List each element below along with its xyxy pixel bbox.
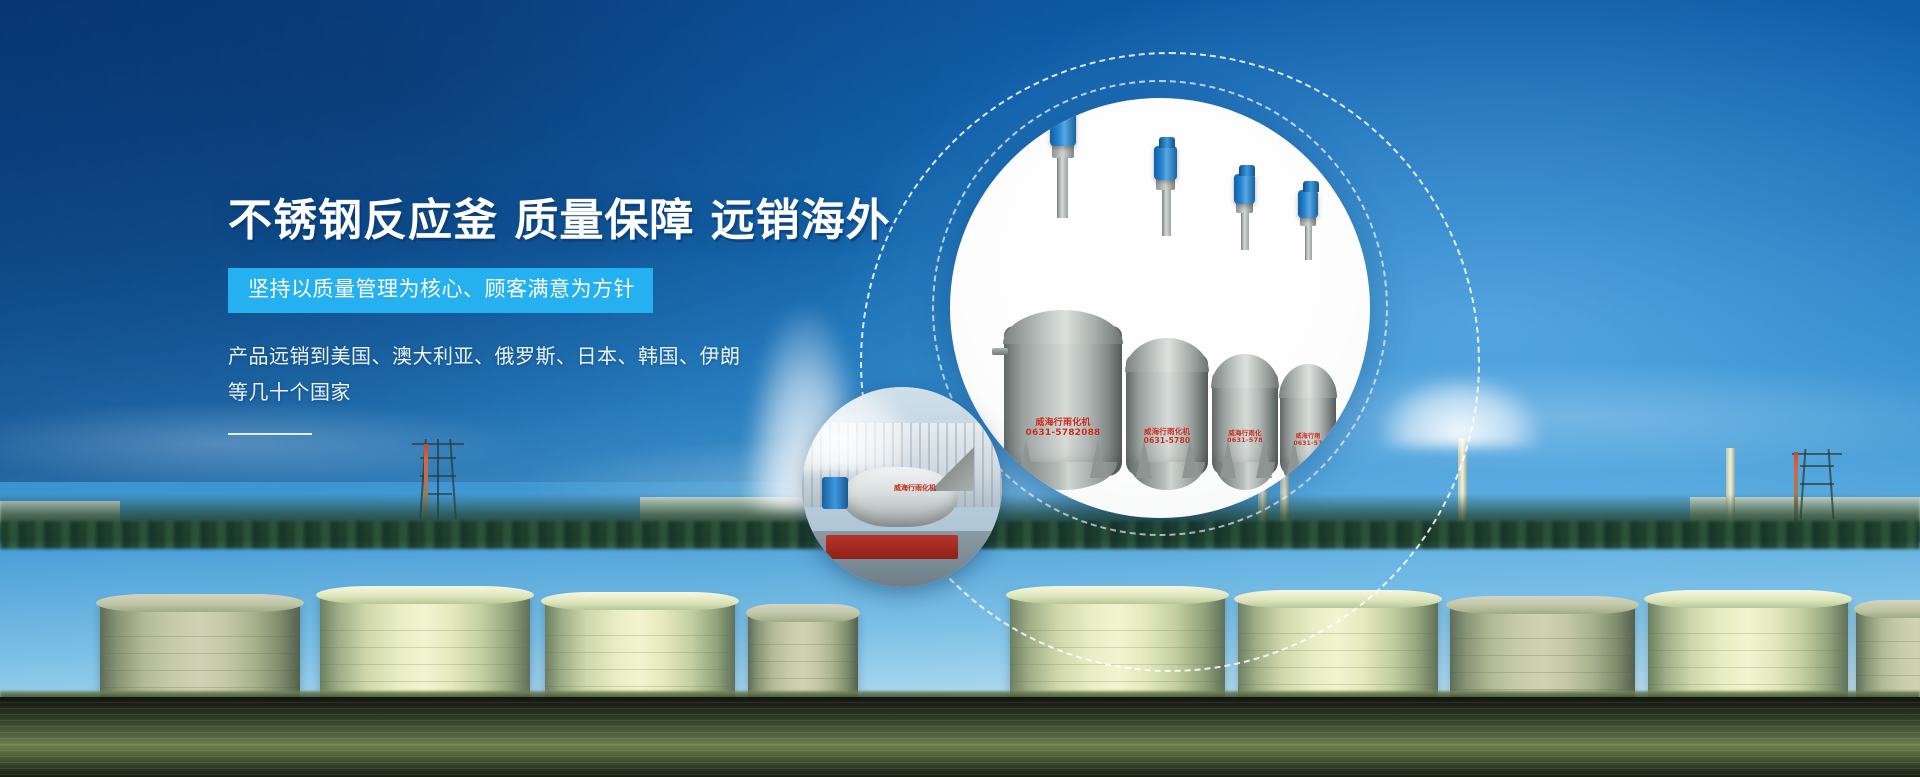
storage-tank — [748, 613, 858, 699]
banner-headline: 不锈钢反应釜 质量保障 远销海外 — [228, 196, 988, 246]
vessel-phone: 0631-5782088 — [1025, 428, 1100, 438]
vessel-brand: 威海行雨化机 — [1035, 418, 1090, 428]
storage-tank — [1450, 605, 1635, 699]
vessel-leg — [1136, 440, 1152, 478]
vessel-phone: 0631-578 — [1227, 436, 1263, 444]
photo-small-truck — [826, 535, 958, 559]
vessel-label-3: 威海行雨化 0631-578 — [1213, 430, 1277, 445]
reactor-motor-3 — [1234, 174, 1255, 204]
banner-subbar-badge: 坚持以质量管理为核心、顾客满意为方针 — [228, 268, 653, 313]
reactor-shaft-2 — [1162, 186, 1171, 236]
photo-small-label: 威海行雨化机 — [894, 485, 936, 493]
vessel-leg — [1256, 440, 1272, 478]
vessel-top-dome — [1211, 354, 1279, 388]
photo-small-motor — [822, 477, 848, 509]
vessel-phone: 0631-5780 — [1144, 436, 1191, 445]
vessel-nozzle — [992, 348, 1008, 355]
photo-small-vessel — [842, 467, 958, 527]
vessel-leg — [1182, 440, 1198, 478]
vessel-leg — [1090, 440, 1106, 478]
reactor-vessel-1: 威海行雨化机 0631-5782088 — [1004, 326, 1122, 476]
water-ripple — [0, 697, 1920, 777]
storage-tank — [1856, 609, 1920, 699]
reactor-vessel-4: 威海行雨 0631-57 — [1280, 380, 1336, 476]
reactor-motor-2 — [1154, 146, 1177, 180]
storage-tank — [1648, 599, 1848, 699]
reactor-photo-stage: 威海行雨化机 0631-5782088 威海行雨化机 0631-5780 — [950, 98, 1370, 518]
reactor-motor-4 — [1298, 190, 1318, 218]
reactor-shaft-3 — [1241, 210, 1249, 250]
reactor-vessel-3: 威海行雨化 0631-578 — [1212, 370, 1278, 476]
reactor-shaft-4 — [1305, 224, 1312, 260]
banner-paragraph: 产品远销到美国、澳大利亚、俄罗斯、日本、韩国、伊朗等几十个国家 — [228, 339, 748, 411]
reactor-motor-1 — [1050, 106, 1076, 146]
vessel-top-dome — [1003, 310, 1123, 344]
vessel-leg — [1018, 440, 1034, 478]
banner-text-block: 不锈钢反应釜 质量保障 远销海外 坚持以质量管理为核心、顾客满意为方针 产品远销… — [228, 196, 988, 435]
storage-tank — [320, 595, 530, 699]
vessel-phone: 0631-57 — [1294, 440, 1323, 447]
reactor-shaft-1 — [1057, 152, 1068, 218]
reactor-photo-circle: 威海行雨化机 0631-5782088 威海行雨化机 0631-5780 — [950, 98, 1370, 518]
vessel-leg — [1220, 440, 1236, 478]
vessel-top-dome — [1125, 338, 1209, 372]
reactor-vessel-2: 威海行雨化机 0631-5780 — [1126, 354, 1208, 476]
vessel-label-4: 威海行雨 0631-57 — [1280, 434, 1336, 448]
vessel-label-2: 威海行雨化机 0631-5780 — [1128, 428, 1206, 445]
banner-divider-rule — [228, 433, 312, 435]
storage-tank — [100, 603, 300, 699]
vessel-label-1: 威海行雨化机 0631-5782088 — [1012, 418, 1114, 439]
hero-banner: 威海行雨化机 0631-5782088 威海行雨化机 0631-5780 — [0, 0, 1920, 777]
vessel-top-dome — [1279, 364, 1337, 398]
storage-tank — [545, 601, 735, 699]
